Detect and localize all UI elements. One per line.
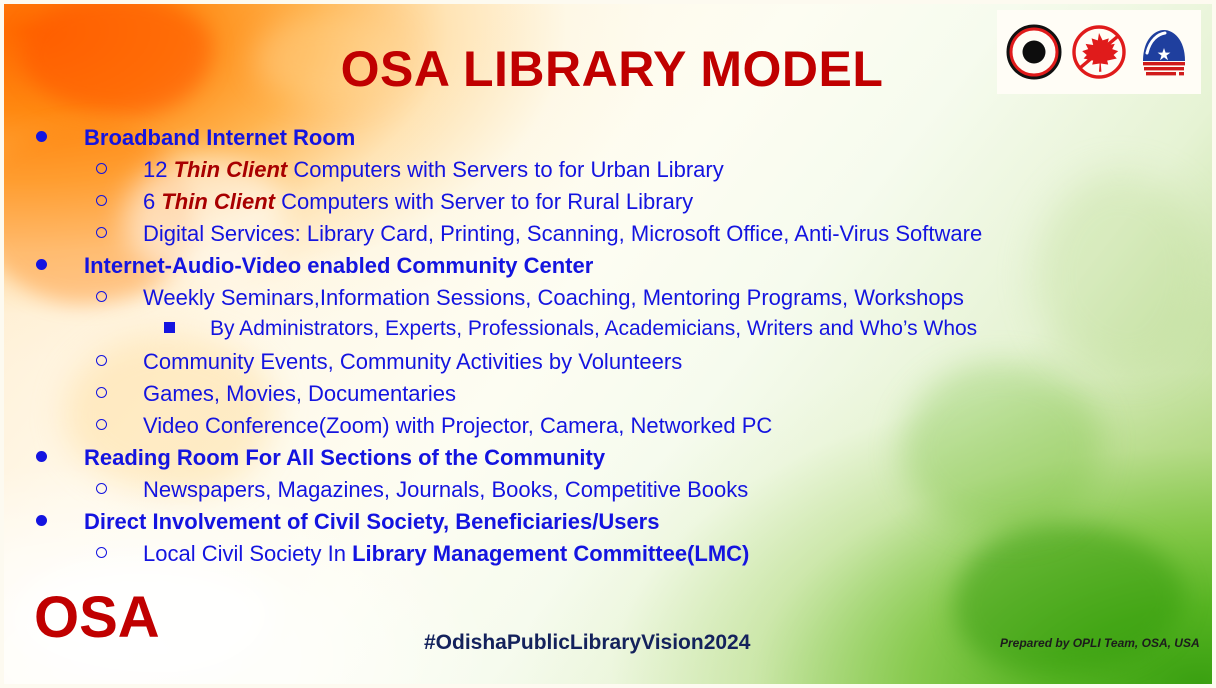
- text-run: Weekly Seminars,Information Sessions, Co…: [143, 285, 964, 310]
- hollow-circle-bullet-icon: [96, 355, 107, 366]
- bullet-row-level-2: Local Civil Society In Library Managemen…: [4, 541, 1216, 573]
- text-run: Games, Movies, Documentaries: [143, 381, 456, 406]
- text-run: By Administrators, Experts, Professional…: [210, 317, 977, 340]
- bullet-marker: [4, 509, 48, 535]
- hollow-circle-bullet-icon: [96, 483, 107, 494]
- emphasis-text: Thin Client: [174, 157, 288, 182]
- hollow-circle-bullet-icon: [96, 163, 107, 174]
- bullet-marker: [4, 381, 108, 407]
- bullet-list: Broadband Internet Room12 Thin Client Co…: [4, 125, 1216, 573]
- bullet-text: Internet-Audio-Video enabled Community C…: [48, 253, 593, 279]
- osa-wordmark: OSA: [34, 589, 160, 647]
- bullet-text: 6 Thin Client Computers with Server to f…: [108, 189, 693, 215]
- bullet-row-level-2: Community Events, Community Activities b…: [4, 349, 1216, 381]
- text-run: 12: [143, 157, 174, 182]
- filled-circle-bullet-icon: [36, 259, 47, 270]
- text-run: 6: [143, 189, 161, 214]
- bullet-marker: [4, 285, 108, 311]
- page-title: OSA LIBRARY MODEL: [4, 40, 1216, 98]
- bullet-text: By Administrators, Experts, Professional…: [174, 317, 977, 341]
- text-run: Community Events, Community Activities b…: [143, 349, 682, 374]
- bullet-row-level-1: Broadband Internet Room: [4, 125, 1216, 157]
- bullet-text: Weekly Seminars,Information Sessions, Co…: [108, 285, 964, 311]
- bullet-row-level-2: 6 Thin Client Computers with Server to f…: [4, 189, 1216, 221]
- text-run: Direct Involvement of Civil Society, Ben…: [84, 509, 659, 534]
- text-run: Newspapers, Magazines, Journals, Books, …: [143, 477, 748, 502]
- filled-circle-bullet-icon: [36, 131, 47, 142]
- bullet-row-level-1: Reading Room For All Sections of the Com…: [4, 445, 1216, 477]
- bullet-marker: [4, 477, 108, 503]
- bullet-row-level-2: Weekly Seminars,Information Sessions, Co…: [4, 285, 1216, 317]
- campaign-hashtag: #OdishaPublicLibraryVision2024: [424, 631, 750, 655]
- credit-line: Prepared by OPLI Team, OSA, USA: [1000, 636, 1200, 650]
- bullet-text: Newspapers, Magazines, Journals, Books, …: [108, 477, 748, 503]
- hollow-circle-bullet-icon: [96, 291, 107, 302]
- bullet-marker: [4, 413, 108, 439]
- text-run: Video Conference(Zoom) with Projector, C…: [143, 413, 772, 438]
- bullet-marker: [4, 349, 108, 375]
- hollow-circle-bullet-icon: [96, 227, 107, 238]
- filled-square-bullet-icon: [164, 322, 175, 333]
- text-run: Computers with Servers to for Urban Libr…: [287, 157, 724, 182]
- bullet-marker: [4, 189, 108, 215]
- slide-canvas: OSA LIBRARY MODEL Broadband Internet Roo…: [0, 0, 1216, 688]
- text-run: Local Civil Society In: [143, 541, 352, 566]
- bullet-text: Community Events, Community Activities b…: [108, 349, 682, 375]
- bullet-text: 12 Thin Client Computers with Servers to…: [108, 157, 724, 183]
- bullet-text: Reading Room For All Sections of the Com…: [48, 445, 605, 471]
- bullet-row-level-2: Newspapers, Magazines, Journals, Books, …: [4, 477, 1216, 509]
- bullet-row-level-2: 12 Thin Client Computers with Servers to…: [4, 157, 1216, 189]
- bullet-row-level-2: Games, Movies, Documentaries: [4, 381, 1216, 413]
- text-run: Computers with Server to for Rural Libra…: [275, 189, 693, 214]
- bullet-marker: [4, 221, 108, 247]
- filled-circle-bullet-icon: [36, 515, 47, 526]
- bullet-text: Local Civil Society In Library Managemen…: [108, 541, 749, 567]
- text-run: Reading Room For All Sections of the Com…: [84, 445, 605, 470]
- filled-circle-bullet-icon: [36, 451, 47, 462]
- bullet-text: Games, Movies, Documentaries: [108, 381, 456, 407]
- emphasis-text: Thin Client: [161, 189, 275, 214]
- hollow-circle-bullet-icon: [96, 387, 107, 398]
- bullet-row-level-2: Video Conference(Zoom) with Projector, C…: [4, 413, 1216, 445]
- bullet-marker: [4, 157, 108, 183]
- text-run: Internet-Audio-Video enabled Community C…: [84, 253, 593, 278]
- bullet-text: Video Conference(Zoom) with Projector, C…: [108, 413, 772, 439]
- bullet-marker: [4, 253, 48, 279]
- text-run: Digital Services: Library Card, Printing…: [143, 221, 982, 246]
- hollow-circle-bullet-icon: [96, 547, 107, 558]
- bullet-text: Digital Services: Library Card, Printing…: [108, 221, 982, 247]
- bullet-row-level-2: Digital Services: Library Card, Printing…: [4, 221, 1216, 253]
- bullet-marker: [4, 125, 48, 151]
- bullet-row-level-1: Internet-Audio-Video enabled Community C…: [4, 253, 1216, 285]
- text-run: Broadband Internet Room: [84, 125, 355, 150]
- hollow-circle-bullet-icon: [96, 419, 107, 430]
- emphasis-text: Library Management Committee(LMC): [352, 541, 749, 566]
- hollow-circle-bullet-icon: [96, 195, 107, 206]
- bullet-text: Broadband Internet Room: [48, 125, 355, 151]
- bullet-text: Direct Involvement of Civil Society, Ben…: [48, 509, 659, 535]
- bullet-marker: [4, 541, 108, 567]
- bullet-marker: [4, 445, 48, 471]
- bullet-marker: [4, 317, 174, 341]
- bullet-row-level-3: By Administrators, Experts, Professional…: [4, 317, 1216, 349]
- bullet-row-level-1: Direct Involvement of Civil Society, Ben…: [4, 509, 1216, 541]
